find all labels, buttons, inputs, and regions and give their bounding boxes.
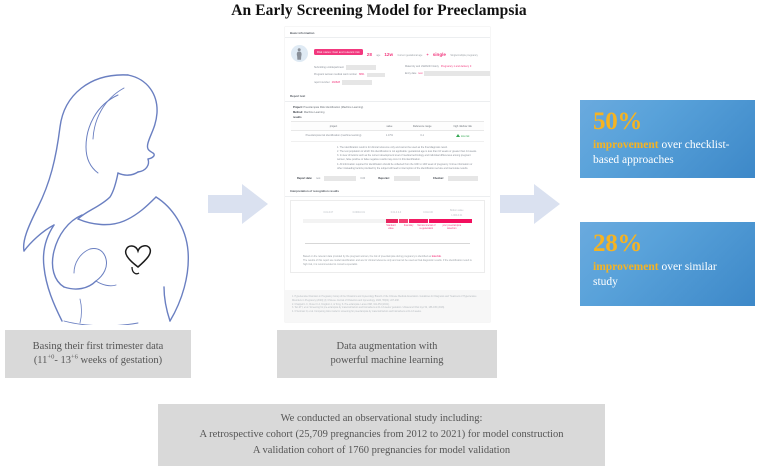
result-2-percent: 28%	[593, 231, 743, 257]
metric-plus: +	[426, 43, 428, 61]
study-line2: A retrospective cohort (25,709 pregnanci…	[200, 427, 564, 443]
interpretation-heading: Interpretation of recognition results	[285, 186, 490, 197]
checker-input[interactable]	[448, 176, 478, 181]
section-interpretation: Interpretation of recognition results 0.…	[285, 186, 490, 274]
caption-box-bottom: We conducted an observational study incl…	[158, 404, 605, 466]
section-report-text: Report text Project: Preeclampsia Risk I…	[285, 91, 490, 181]
gauge-label: Narrow interval of re-generation	[417, 225, 435, 231]
gauge-tick: 0.04-0.00	[423, 212, 433, 214]
risk-status-badge: Risk status: Fast and relevant risk	[314, 49, 363, 55]
note-item: 1. The identification result is for clin…	[337, 146, 478, 150]
col-risk: high risk/low risk	[442, 122, 484, 131]
flow-arrow-1	[208, 184, 270, 224]
metric-gestational-age: 12w Current gestational age	[384, 43, 422, 61]
field-input[interactable]	[346, 65, 376, 70]
risk-gauge-bar	[303, 219, 472, 223]
horizontal-scrollbar[interactable]	[305, 243, 470, 245]
result-1-highlight: improvement	[593, 139, 659, 151]
reporter-input[interactable]	[394, 176, 420, 181]
result-1-percent: 50%	[593, 109, 743, 135]
note-item: 4. All information required for identifi…	[337, 163, 478, 171]
page-title: An Early Screening Model for Preeclampsi…	[0, 2, 758, 20]
cell-range: 0-1	[403, 131, 442, 142]
col-range: Reference range	[403, 122, 442, 131]
gauge-label: Standard value	[386, 225, 395, 231]
report-date-suffix: 0.00	[360, 177, 365, 180]
note-item: 2. The test population to which this ide…	[337, 150, 478, 154]
col-project: project	[291, 122, 376, 131]
conclusion-block: Based on the relevant data provided by t…	[303, 255, 472, 267]
report-method: Method: Machine Learning	[293, 111, 484, 114]
field-input[interactable]	[424, 71, 490, 76]
gauge-card: 0.01-0.07 0.0000-0.01 0.01-0.0-0 0.04-0.…	[290, 200, 485, 273]
gauge-tick: 0.01-0.0-0	[391, 212, 401, 214]
col-value: value	[376, 122, 403, 131]
caption-left-line2: (11+0- 13+6 weeks of gestation)	[34, 354, 162, 368]
pregnant-woman-illustration	[20, 55, 210, 325]
result-2-highlight: improvement	[593, 261, 659, 273]
pregnant-avatar-icon	[296, 48, 303, 60]
report-date-label: Report date:	[297, 177, 312, 180]
field-card-number: Pregnant woman medical card number 8801	[314, 73, 399, 78]
cell-risk: low risk	[442, 131, 484, 142]
low-risk-icon	[456, 134, 460, 137]
note-item: 3. In view of factors such as the curren…	[337, 154, 478, 162]
gauge-tick: 0.01-0.07	[323, 212, 333, 214]
reference-item: 4. O'Gorman N, et al. Competing risks mo…	[292, 311, 483, 315]
gauge-label: boundary	[404, 225, 414, 228]
signature-row: Report date: test 0.00 Reporter: Checker…	[297, 176, 478, 181]
reporter-label: Reporter:	[378, 177, 390, 180]
flow-arrow-2	[500, 184, 562, 224]
study-line1: We conducted an observational study incl…	[281, 411, 483, 427]
metric-pregnancy-type: single Single/multiple pregnancy	[433, 43, 478, 61]
report-results-label: results	[293, 116, 484, 119]
field-report-number: report number 282828	[314, 80, 399, 85]
caption-box-left: Basing their first trimester data (11+0-…	[5, 330, 191, 378]
gauge-labels: Standard value boundary Narrow interval …	[303, 225, 472, 234]
caption-left-line1: Basing their first trimester data	[33, 340, 164, 354]
gauge-tick: Bottom value	[450, 210, 463, 212]
results-table: project value Reference range high risk/…	[291, 121, 484, 141]
gauge-ticks: 0.01-0.07 0.0000-0.01 0.01-0.0-0 0.04-0.…	[303, 212, 472, 218]
field-input[interactable]	[367, 73, 385, 78]
checker-label: Checker:	[433, 177, 444, 180]
result-panel-2: 28% improvement over similar study	[580, 222, 755, 306]
study-line3: A validation cohort of 1760 pregnancies …	[253, 443, 510, 459]
field-submitting-unit: Submitting unit/department	[314, 65, 399, 70]
table-row: Preeclampsia risk identification (machin…	[291, 131, 484, 142]
gauge-tick: 0.0000-0.01	[353, 212, 365, 214]
caption-mid-line1: Data augmentation with	[337, 340, 438, 354]
section-basic-information: Basic information Risk status: Fast and …	[285, 27, 490, 91]
reference-item: 1. Hypertensive Disorders in Pregnancy G…	[292, 296, 483, 303]
report-notes: 1. The identification result is for clin…	[297, 146, 478, 171]
gauge-label: your preeclampsia detection	[442, 225, 462, 231]
conclusion-line-2: The results of this report are model ide…	[303, 259, 472, 267]
result-1-text: improvement over checklist-based approac…	[593, 138, 743, 168]
field-birth-history: Maternity and childbirth history Pregnan…	[405, 65, 490, 68]
table-header-row: project value Reference range high risk/…	[291, 122, 484, 131]
report-project: Project: Preeclampsia Risk Identificatio…	[293, 106, 484, 109]
report-date-prefix: test	[316, 177, 320, 180]
references-block: 1. Hypertensive Disorders in Pregnancy G…	[285, 290, 490, 321]
result-2-text: improvement over similar study	[593, 260, 743, 290]
avatar	[291, 45, 308, 62]
caption-mid-line2: powerful machine learning	[330, 354, 443, 368]
cell-value: 1.47%	[376, 131, 403, 142]
result-panel-1: 50% improvement over checklist-based app…	[580, 100, 755, 178]
gauge-tick: 1.000-0.01	[451, 215, 462, 217]
report-app-screenshot: Basic information Risk status: Fast and …	[285, 27, 490, 322]
field-entry-date: Entry date test	[405, 71, 490, 76]
caption-box-middle: Data augmentation with powerful machine …	[277, 330, 497, 378]
metric-age: 28 age	[367, 43, 381, 61]
basic-information-heading: Basic information	[285, 27, 490, 38]
report-text-heading: Report text	[285, 91, 490, 102]
report-date-input[interactable]	[324, 176, 356, 181]
field-input[interactable]	[342, 80, 372, 85]
cell-project: Preeclampsia risk identification (machin…	[291, 131, 376, 142]
